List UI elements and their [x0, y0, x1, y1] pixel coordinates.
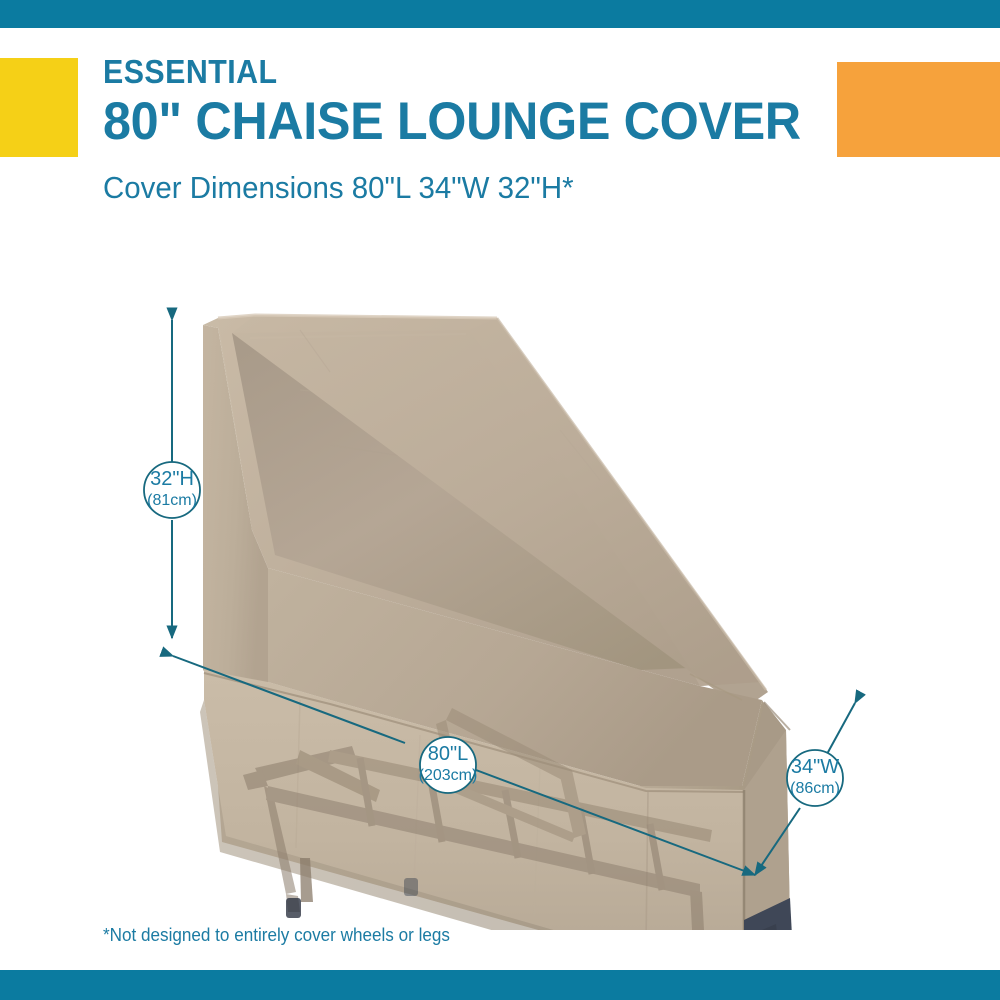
- width-value-metric: (86cm): [790, 780, 840, 797]
- length-value-imperial: 80"L: [428, 743, 468, 765]
- top-brand-bar: [0, 0, 1000, 28]
- frame-foot-cap: [286, 898, 301, 918]
- length-value-metric: (203cm): [419, 767, 478, 784]
- diagram-svg: 32"H (81cm) 80"L (203cm) 34"W (86cm): [0, 230, 1000, 930]
- page-subtitle: Cover Dimensions 80"L 34"W 32"H*: [103, 172, 806, 203]
- height-value-metric: (81cm): [147, 492, 197, 509]
- yellow-accent-swatch: [0, 58, 78, 157]
- header-block: ESSENTIAL 80" CHAISE LOUNGE COVER Cover …: [103, 55, 843, 203]
- width-arrow-upper: [827, 703, 855, 754]
- product-illustration: 32"H (81cm) 80"L (203cm) 34"W (86cm): [0, 230, 1000, 930]
- bottom-brand-bar: [0, 970, 1000, 1000]
- height-value-imperial: 32"H: [150, 468, 194, 490]
- chaise-cover-artwork: [200, 315, 792, 930]
- product-dimension-card: ESSENTIAL 80" CHAISE LOUNGE COVER Cover …: [0, 0, 1000, 1000]
- width-value-imperial: 34"W: [791, 756, 839, 778]
- product-line-label: ESSENTIAL: [103, 55, 784, 88]
- orange-accent-swatch: [837, 62, 1000, 157]
- page-title: 80" CHAISE LOUNGE COVER: [103, 92, 806, 151]
